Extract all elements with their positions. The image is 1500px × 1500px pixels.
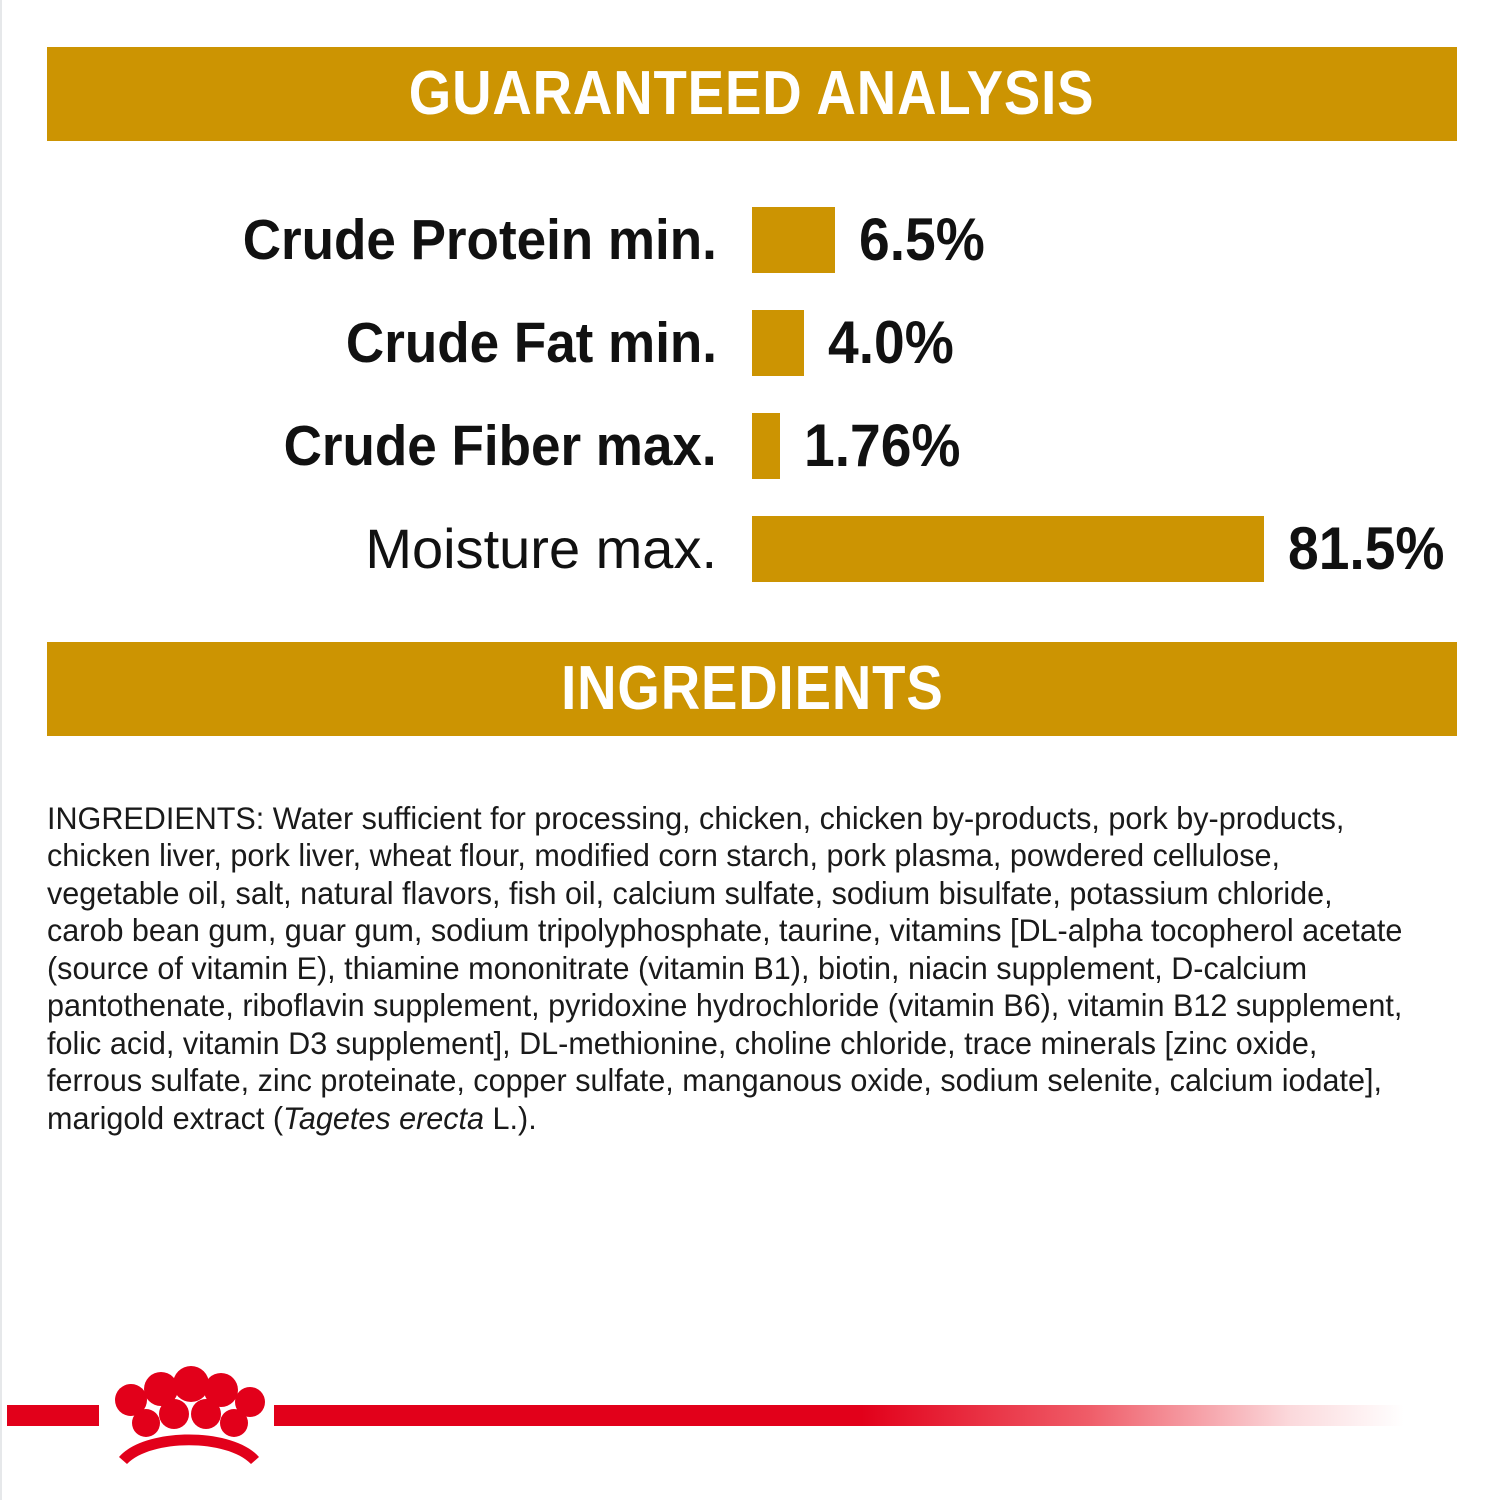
analysis-row-bar-wrap [752, 291, 804, 394]
analysis-row-bar [752, 516, 1264, 582]
analysis-row-value: 6.5% [859, 188, 985, 291]
nutrition-label-page: GUARANTEED ANALYSIS Crude Protein min.6.… [0, 0, 1500, 1500]
ingredients-header: INGREDIENTS [47, 642, 1457, 736]
analysis-row-label: Crude Fat min. [346, 291, 717, 394]
guaranteed-analysis-header: GUARANTEED ANALYSIS [47, 47, 1457, 141]
ingredients-scientific-name: Tagetes erecta [283, 1100, 484, 1136]
analysis-row-label: Moisture max. [365, 497, 717, 600]
analysis-row: Crude Protein min.6.5% [2, 188, 1500, 291]
analysis-row-value: 4.0% [828, 291, 954, 394]
analysis-row-value: 81.5% [1288, 497, 1445, 600]
analysis-row-bar-wrap [752, 394, 780, 497]
footer-rule-left [7, 1405, 99, 1426]
analysis-row-bar [752, 413, 780, 479]
ingredients-body: INGREDIENTS: Water sufficient for proces… [47, 800, 1410, 1138]
analysis-row-bar-wrap [752, 497, 1264, 600]
analysis-row-bar [752, 310, 804, 376]
analysis-row-bar [752, 207, 835, 273]
ingredients-title: INGREDIENTS [561, 658, 944, 720]
analysis-row-label: Crude Protein min. [243, 188, 717, 291]
footer-rule-right [274, 1405, 1404, 1426]
ingredients-body-main: INGREDIENTS: Water sufficient for proces… [47, 800, 1402, 1136]
analysis-row-bar-wrap [752, 188, 835, 291]
brand-footer [2, 1365, 1500, 1485]
analysis-row-label: Crude Fiber max. [284, 394, 717, 497]
royal-canin-crown-icon [105, 1365, 273, 1465]
analysis-row: Crude Fat min.4.0% [2, 291, 1500, 394]
ingredients-body-tail: L.). [484, 1100, 537, 1136]
analysis-row-value: 1.76% [804, 394, 961, 497]
analysis-row: Moisture max.81.5% [2, 497, 1500, 600]
analysis-row: Crude Fiber max.1.76% [2, 394, 1500, 497]
guaranteed-analysis-chart: Crude Protein min.6.5%Crude Fat min.4.0%… [2, 188, 1500, 600]
guaranteed-analysis-title: GUARANTEED ANALYSIS [409, 63, 1095, 125]
